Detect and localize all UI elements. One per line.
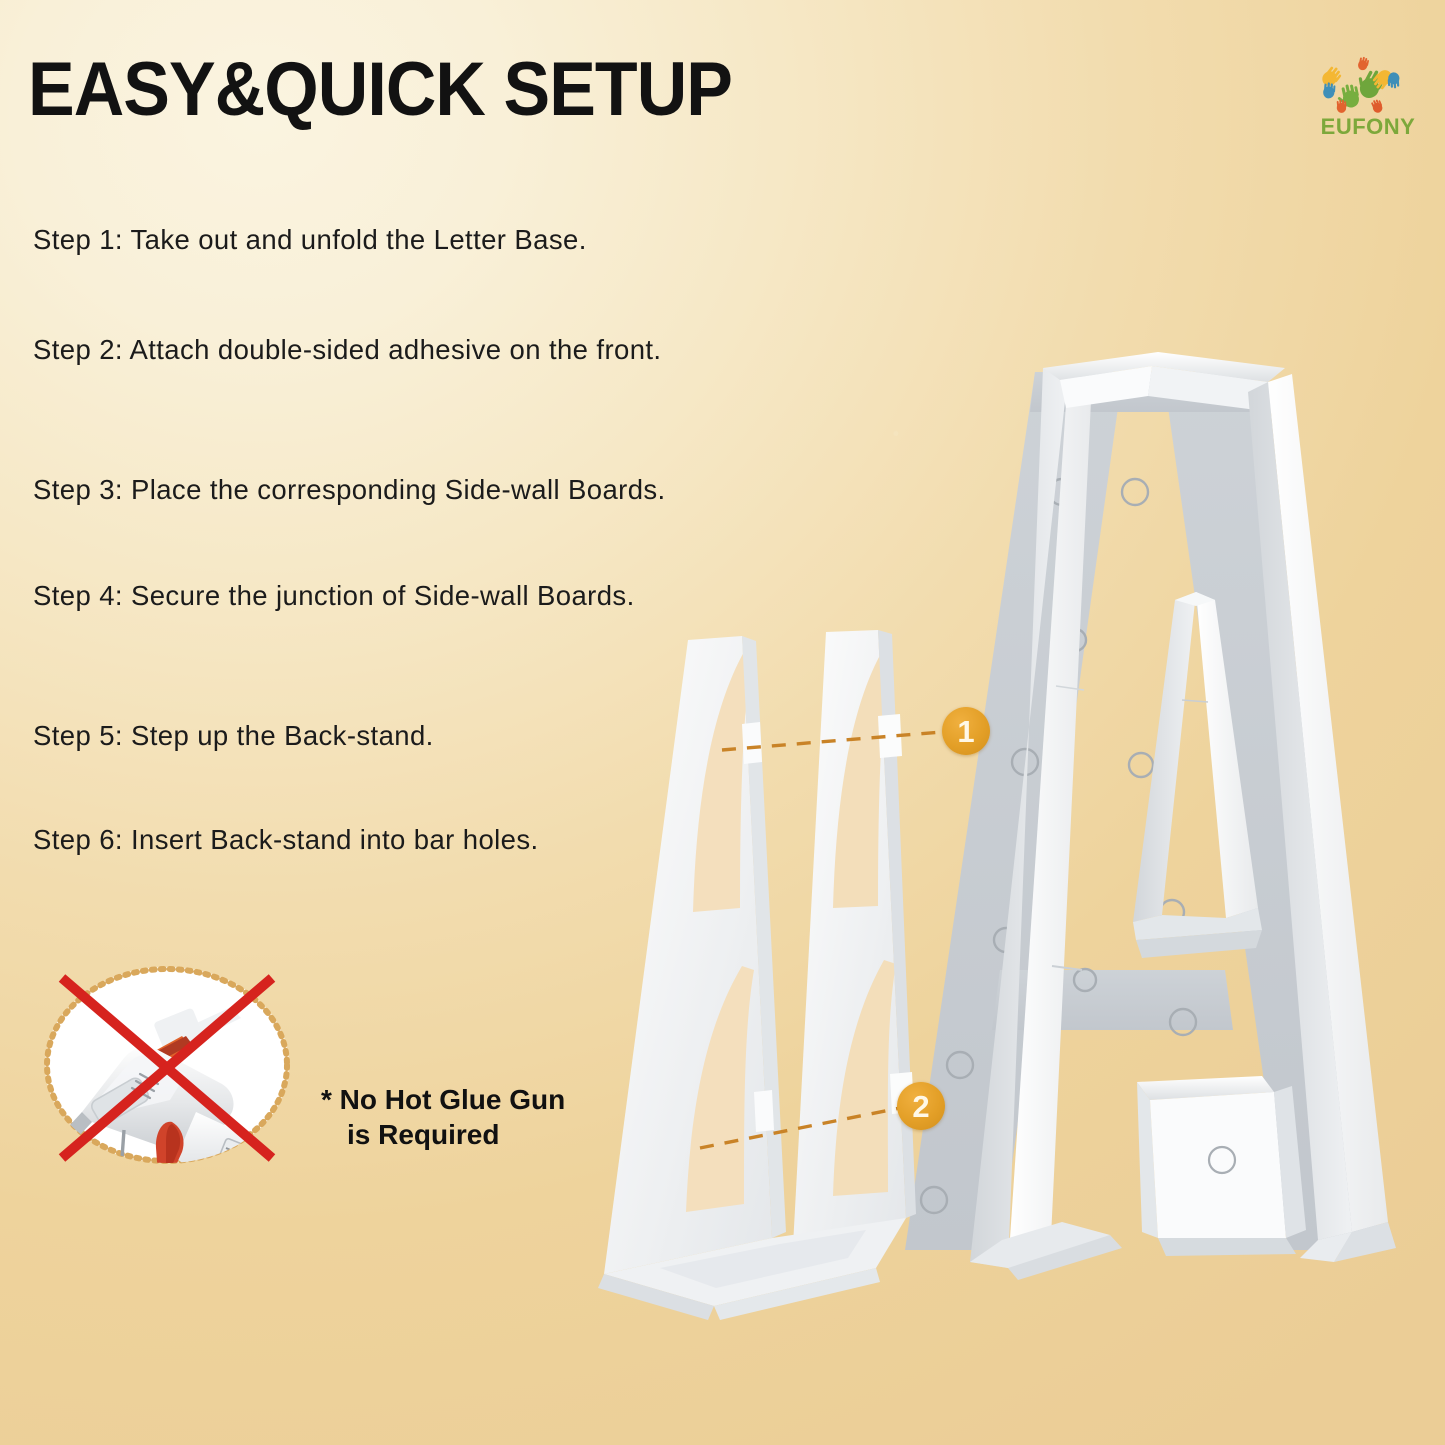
callout-badge-2[interactable]: 2	[897, 1082, 945, 1130]
letter-a-assembly-illustration	[0, 0, 1445, 1445]
no-glue-notice: * No Hot Glue Gun is Required	[36, 962, 581, 1212]
poster-canvas: EASY&QUICK SETUP	[0, 0, 1445, 1445]
callout-badge-1[interactable]: 1	[942, 707, 990, 755]
no-glue-caption-line1: * No Hot Glue Gun	[321, 1084, 565, 1115]
no-glue-caption: * No Hot Glue Gun is Required	[321, 1082, 601, 1153]
back-stand	[598, 630, 916, 1320]
no-glue-caption-line2: is Required	[321, 1117, 601, 1152]
no-hot-glue-gun-icon	[36, 962, 306, 1175]
